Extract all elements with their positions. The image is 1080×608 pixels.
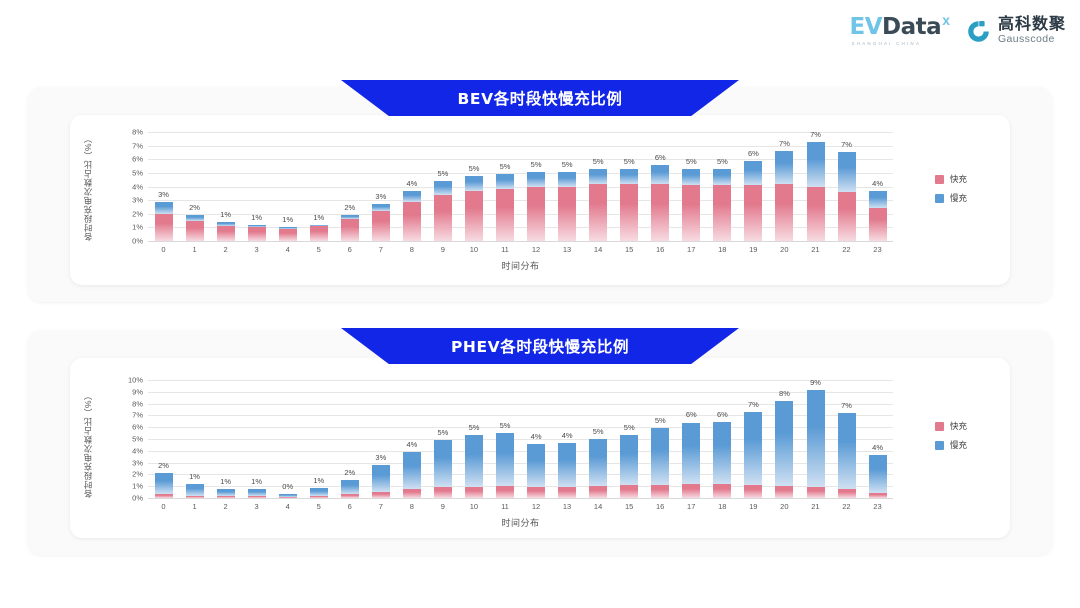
stacked-bar[interactable]: 5% bbox=[465, 435, 483, 498]
x-tick-label: 2 bbox=[210, 245, 241, 254]
bar-value-label: 5% bbox=[496, 162, 514, 171]
stacked-bar[interactable]: 6% bbox=[651, 165, 669, 241]
bar-value-label: 5% bbox=[527, 160, 545, 169]
x-tick-label: 15 bbox=[614, 502, 645, 511]
bar-column[interactable]: 7% bbox=[831, 380, 862, 498]
bar-column[interactable]: 5% bbox=[614, 132, 645, 241]
bar-column[interactable]: 0% bbox=[272, 380, 303, 498]
bar-segment-fast-charge[interactable] bbox=[341, 494, 359, 498]
bar-segment-slow-charge[interactable] bbox=[558, 172, 576, 187]
stacked-bar[interactable]: 2% bbox=[155, 473, 173, 498]
bar-segment-slow-charge[interactable] bbox=[744, 161, 762, 186]
bar-column[interactable]: 5% bbox=[490, 380, 521, 498]
stacked-bar[interactable]: 5% bbox=[496, 433, 514, 498]
bar-column[interactable]: 9% bbox=[800, 380, 831, 498]
bar-segment-fast-charge[interactable] bbox=[620, 184, 638, 241]
bar-column[interactable]: 1% bbox=[210, 380, 241, 498]
bar-segment-fast-charge[interactable] bbox=[434, 195, 452, 241]
bar-column[interactable]: 8% bbox=[769, 380, 800, 498]
phev-y-tick: 0% bbox=[132, 494, 143, 503]
x-tick-label: 0 bbox=[148, 502, 179, 511]
bar-segment-slow-charge[interactable] bbox=[434, 440, 452, 487]
stacked-bar[interactable]: 5% bbox=[620, 435, 638, 498]
phev-y-tick: 1% bbox=[132, 482, 143, 491]
bev-gridline bbox=[148, 241, 893, 242]
bar-segment-slow-charge[interactable] bbox=[651, 428, 669, 485]
bar-value-label: 3% bbox=[372, 192, 390, 201]
bar-segment-slow-charge[interactable] bbox=[558, 443, 576, 487]
bar-segment-slow-charge[interactable] bbox=[775, 401, 793, 485]
bar-value-label: 7% bbox=[807, 130, 825, 139]
stacked-bar[interactable]: 3% bbox=[372, 204, 390, 241]
x-tick-label: 6 bbox=[334, 502, 365, 511]
x-tick-label: 19 bbox=[738, 502, 769, 511]
bar-segment-slow-charge[interactable] bbox=[186, 484, 204, 495]
bar-value-label: 5% bbox=[465, 423, 483, 432]
bar-segment-slow-charge[interactable] bbox=[713, 169, 731, 185]
bar-value-label: 4% bbox=[403, 179, 421, 188]
x-tick-label: 6 bbox=[334, 245, 365, 254]
gausscode-logo: 高科数聚 Gausscode bbox=[966, 17, 1066, 45]
bar-value-label: 1% bbox=[217, 477, 235, 486]
bev-chart: 各时段充电次数占比（%）0%1%2%3%4%5%6%7%8%3%2%1%1%1%… bbox=[70, 115, 1010, 285]
stacked-bar[interactable]: 5% bbox=[434, 181, 452, 241]
x-tick-label: 10 bbox=[458, 502, 489, 511]
bar-value-label: 5% bbox=[620, 157, 638, 166]
stacked-bar[interactable]: 5% bbox=[651, 428, 669, 498]
stacked-bar[interactable]: 9% bbox=[807, 390, 825, 498]
bar-column[interactable]: 6% bbox=[676, 380, 707, 498]
stacked-bar[interactable]: 4% bbox=[527, 444, 545, 498]
legend-swatch-icon bbox=[935, 194, 944, 203]
stacked-bar[interactable]: 7% bbox=[744, 412, 762, 498]
bev-y-tick: 5% bbox=[132, 168, 143, 177]
bar-segment-fast-charge[interactable] bbox=[682, 484, 700, 498]
bar-segment-slow-charge[interactable] bbox=[869, 191, 887, 209]
bar-column[interactable]: 7% bbox=[831, 132, 862, 241]
bar-segment-slow-charge[interactable] bbox=[651, 165, 669, 184]
stacked-bar[interactable]: 1% bbox=[217, 489, 235, 498]
bar-column[interactable]: 4% bbox=[862, 132, 893, 241]
bar-segment-slow-charge[interactable] bbox=[496, 174, 514, 189]
bar-segment-fast-charge[interactable] bbox=[869, 208, 887, 241]
stacked-bar[interactable]: 1% bbox=[279, 227, 297, 241]
bar-segment-fast-charge[interactable] bbox=[527, 187, 545, 242]
bar-segment-slow-charge[interactable] bbox=[310, 488, 328, 496]
bar-column[interactable]: 1% bbox=[303, 380, 334, 498]
stacked-bar[interactable]: 1% bbox=[217, 222, 235, 241]
bar-column[interactable]: 4% bbox=[552, 380, 583, 498]
stacked-bar[interactable]: 1% bbox=[310, 225, 328, 241]
bev-x-axis-label: 时间分布 bbox=[148, 259, 893, 272]
bar-segment-fast-charge[interactable] bbox=[558, 487, 576, 498]
gausscode-logo-cn: 高科数聚 bbox=[998, 17, 1066, 34]
bev-y-axis-label: 各时段充电次数占比（%） bbox=[82, 132, 94, 241]
bar-column[interactable]: 4% bbox=[396, 380, 427, 498]
bar-value-label: 2% bbox=[186, 203, 204, 212]
x-tick-label: 5 bbox=[303, 502, 334, 511]
bar-segment-fast-charge[interactable] bbox=[838, 489, 856, 498]
x-tick-label: 8 bbox=[396, 502, 427, 511]
bar-segment-slow-charge[interactable] bbox=[372, 465, 390, 492]
x-tick-label: 16 bbox=[645, 245, 676, 254]
bar-segment-fast-charge[interactable] bbox=[838, 192, 856, 241]
bar-value-label: 4% bbox=[527, 432, 545, 441]
stacked-bar[interactable]: 3% bbox=[155, 202, 173, 242]
bar-value-label: 3% bbox=[155, 190, 173, 199]
logo-group: EVData x SHANGHAI CHINA 高科数聚 Gausscode bbox=[850, 16, 1066, 47]
bar-segment-slow-charge[interactable] bbox=[341, 480, 359, 495]
bar-column[interactable]: 5% bbox=[552, 132, 583, 241]
bar-value-label: 5% bbox=[465, 164, 483, 173]
legend-item[interactable]: 慢充 bbox=[935, 439, 967, 451]
x-tick-label: 4 bbox=[272, 502, 303, 511]
stacked-bar[interactable]: 5% bbox=[620, 169, 638, 241]
phev-y-tick: 9% bbox=[132, 387, 143, 396]
x-tick-label: 7 bbox=[365, 245, 396, 254]
bar-segment-fast-charge[interactable] bbox=[589, 184, 607, 241]
x-tick-label: 23 bbox=[862, 245, 893, 254]
bev-title-banner: BEV各时段快慢充比例 bbox=[341, 80, 739, 116]
bar-segment-fast-charge[interactable] bbox=[217, 226, 235, 241]
bar-column[interactable]: 7% bbox=[738, 380, 769, 498]
bar-column[interactable]: 1% bbox=[210, 132, 241, 241]
bar-segment-slow-charge[interactable] bbox=[744, 412, 762, 485]
bar-segment-slow-charge[interactable] bbox=[807, 390, 825, 487]
phev-chart-card: 各时段充电次数占比（%）0%1%2%3%4%5%6%7%8%9%10%2%1%1… bbox=[70, 358, 1010, 538]
bar-segment-fast-charge[interactable] bbox=[744, 485, 762, 498]
legend-item[interactable]: 慢充 bbox=[935, 192, 967, 204]
stacked-bar[interactable]: 6% bbox=[682, 422, 700, 498]
bar-segment-fast-charge[interactable] bbox=[775, 486, 793, 498]
bar-segment-fast-charge[interactable] bbox=[465, 191, 483, 241]
stacked-bar[interactable]: 5% bbox=[713, 169, 731, 241]
x-tick-label: 8 bbox=[396, 245, 427, 254]
bar-segment-slow-charge[interactable] bbox=[838, 413, 856, 489]
phev-y-tick: 6% bbox=[132, 423, 143, 432]
gausscode-mark-icon bbox=[966, 19, 991, 44]
stacked-bar[interactable]: 2% bbox=[186, 215, 204, 241]
bar-segment-fast-charge[interactable] bbox=[248, 496, 266, 498]
x-tick-label: 13 bbox=[552, 502, 583, 511]
bar-column[interactable]: 4% bbox=[521, 380, 552, 498]
phev-y-axis-label: 各时段充电次数占比（%） bbox=[82, 380, 94, 498]
bar-segment-fast-charge[interactable] bbox=[186, 496, 204, 498]
bar-column[interactable]: 2% bbox=[148, 380, 179, 498]
phev-x-axis-label: 时间分布 bbox=[148, 516, 893, 529]
bar-value-label: 5% bbox=[558, 160, 576, 169]
stacked-bar[interactable]: 5% bbox=[589, 439, 607, 498]
bar-segment-slow-charge[interactable] bbox=[217, 489, 235, 496]
x-tick-label: 13 bbox=[552, 245, 583, 254]
bar-segment-slow-charge[interactable] bbox=[589, 439, 607, 486]
x-tick-label: 14 bbox=[583, 245, 614, 254]
bar-segment-fast-charge[interactable] bbox=[496, 486, 514, 498]
bar-segment-fast-charge[interactable] bbox=[651, 184, 669, 241]
bar-column[interactable]: 5% bbox=[707, 132, 738, 241]
bev-plot-area: 0%1%2%3%4%5%6%7%8%3%2%1%1%1%1%2%3%4%5%5%… bbox=[148, 132, 893, 241]
stacked-bar[interactable]: 6% bbox=[744, 161, 762, 241]
bar-segment-fast-charge[interactable] bbox=[434, 487, 452, 498]
stacked-bar[interactable]: 2% bbox=[341, 215, 359, 241]
stacked-bar[interactable]: 1% bbox=[248, 225, 266, 241]
bar-segment-fast-charge[interactable] bbox=[155, 214, 173, 241]
x-tick-label: 9 bbox=[427, 245, 458, 254]
bar-segment-slow-charge[interactable] bbox=[589, 169, 607, 184]
bev-chart-card: 各时段充电次数占比（%）0%1%2%3%4%5%6%7%8%3%2%1%1%1%… bbox=[70, 115, 1010, 285]
bar-segment-fast-charge[interactable] bbox=[155, 494, 173, 498]
bar-segment-fast-charge[interactable] bbox=[651, 485, 669, 498]
bar-column[interactable]: 1% bbox=[241, 380, 272, 498]
x-tick-label: 0 bbox=[148, 245, 179, 254]
evdata-logo-superscript: x bbox=[942, 13, 950, 27]
bar-column[interactable]: 5% bbox=[583, 380, 614, 498]
stacked-bar[interactable]: 4% bbox=[403, 191, 421, 241]
stacked-bar[interactable]: 4% bbox=[403, 452, 421, 498]
bar-column[interactable]: 5% bbox=[427, 380, 458, 498]
phev-title-banner: PHEV各时段快慢充比例 bbox=[341, 328, 739, 364]
bar-segment-fast-charge[interactable] bbox=[775, 184, 793, 241]
bar-value-label: 6% bbox=[682, 410, 700, 419]
evdata-logo: EVData x SHANGHAI CHINA bbox=[850, 16, 950, 47]
bar-column[interactable]: 1% bbox=[272, 132, 303, 241]
bar-value-label: 4% bbox=[869, 443, 887, 452]
stacked-bar[interactable]: 7% bbox=[775, 151, 793, 241]
bar-column[interactable]: 5% bbox=[676, 132, 707, 241]
x-tick-label: 21 bbox=[800, 245, 831, 254]
bar-column[interactable]: 6% bbox=[738, 132, 769, 241]
bar-segment-fast-charge[interactable] bbox=[186, 221, 204, 241]
stacked-bar[interactable]: 5% bbox=[496, 174, 514, 241]
bev-chart-panel: 各时段充电次数占比（%）0%1%2%3%4%5%6%7%8%3%2%1%1%1%… bbox=[28, 87, 1052, 302]
x-tick-label: 12 bbox=[521, 245, 552, 254]
stacked-bar[interactable]: 7% bbox=[807, 142, 825, 241]
bar-segment-slow-charge[interactable] bbox=[807, 142, 825, 187]
stacked-bar[interactable]: 4% bbox=[869, 191, 887, 241]
bar-segment-fast-charge[interactable] bbox=[744, 185, 762, 241]
legend-item[interactable]: 快充 bbox=[935, 173, 967, 185]
bar-segment-slow-charge[interactable] bbox=[248, 489, 266, 497]
bar-value-label: 9% bbox=[807, 378, 825, 387]
stacked-bar[interactable]: 3% bbox=[372, 465, 390, 498]
bar-segment-slow-charge[interactable] bbox=[838, 152, 856, 192]
bar-segment-fast-charge[interactable] bbox=[465, 487, 483, 498]
bar-segment-slow-charge[interactable] bbox=[465, 435, 483, 486]
bar-segment-fast-charge[interactable] bbox=[403, 202, 421, 242]
stacked-bar[interactable]: 5% bbox=[465, 176, 483, 241]
x-tick-label: 11 bbox=[489, 245, 520, 254]
bar-value-label: 1% bbox=[248, 477, 266, 486]
stacked-bar[interactable]: 5% bbox=[434, 440, 452, 498]
legend-label: 慢充 bbox=[950, 192, 967, 204]
bev-y-tick: 3% bbox=[132, 196, 143, 205]
stacked-bar[interactable]: 2% bbox=[341, 480, 359, 498]
evdata-logo-text: EVData bbox=[850, 16, 942, 39]
bar-segment-fast-charge[interactable] bbox=[403, 489, 421, 498]
bar-column[interactable]: 5% bbox=[614, 380, 645, 498]
bar-value-label: 5% bbox=[589, 157, 607, 166]
bar-segment-slow-charge[interactable] bbox=[869, 455, 887, 493]
stacked-bar[interactable]: 1% bbox=[186, 484, 204, 498]
bar-segment-fast-charge[interactable] bbox=[248, 227, 266, 241]
bar-value-label: 7% bbox=[775, 139, 793, 148]
bar-segment-fast-charge[interactable] bbox=[279, 497, 297, 498]
x-tick-label: 3 bbox=[241, 245, 272, 254]
x-tick-label: 1 bbox=[179, 502, 210, 511]
bar-column[interactable]: 2% bbox=[179, 132, 210, 241]
bar-segment-slow-charge[interactable] bbox=[155, 202, 173, 214]
bar-segment-fast-charge[interactable] bbox=[869, 493, 887, 498]
bar-value-label: 5% bbox=[682, 157, 700, 166]
bar-value-label: 2% bbox=[155, 461, 173, 470]
bar-segment-fast-charge[interactable] bbox=[620, 485, 638, 498]
bar-column[interactable]: 5% bbox=[583, 132, 614, 241]
bar-segment-fast-charge[interactable] bbox=[310, 226, 328, 241]
bar-segment-fast-charge[interactable] bbox=[558, 187, 576, 242]
stacked-bar[interactable]: 1% bbox=[248, 489, 266, 498]
stacked-bar[interactable]: 7% bbox=[838, 413, 856, 498]
bar-value-label: 1% bbox=[310, 213, 328, 222]
x-tick-label: 4 bbox=[272, 245, 303, 254]
bar-segment-slow-charge[interactable] bbox=[496, 433, 514, 486]
stacked-bar[interactable]: 5% bbox=[589, 169, 607, 241]
phev-y-tick: 2% bbox=[132, 470, 143, 479]
bar-column[interactable]: 5% bbox=[427, 132, 458, 241]
bar-segment-fast-charge[interactable] bbox=[527, 487, 545, 498]
bar-segment-fast-charge[interactable] bbox=[589, 486, 607, 498]
bar-segment-fast-charge[interactable] bbox=[279, 229, 297, 241]
bar-column[interactable]: 2% bbox=[334, 132, 365, 241]
bar-segment-slow-charge[interactable] bbox=[775, 151, 793, 184]
bar-segment-slow-charge[interactable] bbox=[527, 444, 545, 487]
phev-y-tick: 3% bbox=[132, 458, 143, 467]
phev-y-tick: 4% bbox=[132, 446, 143, 455]
bar-value-label: 4% bbox=[869, 179, 887, 188]
bev-y-tick: 1% bbox=[132, 223, 143, 232]
bar-column[interactable]: 4% bbox=[862, 380, 893, 498]
stacked-bar[interactable]: 1% bbox=[310, 488, 328, 498]
phev-bar-group: 2%1%1%1%0%1%2%3%4%5%5%5%4%4%5%5%5%6%6%7%… bbox=[148, 380, 893, 498]
bar-segment-fast-charge[interactable] bbox=[217, 496, 235, 498]
bar-column[interactable]: 1% bbox=[303, 132, 334, 241]
legend-swatch-icon bbox=[935, 175, 944, 184]
bar-value-label: 1% bbox=[248, 213, 266, 222]
x-tick-label: 11 bbox=[489, 502, 520, 511]
stacked-bar[interactable]: 8% bbox=[775, 401, 793, 498]
bar-segment-slow-charge[interactable] bbox=[620, 169, 638, 184]
bar-segment-slow-charge[interactable] bbox=[620, 435, 638, 485]
bar-column[interactable]: 5% bbox=[458, 132, 489, 241]
x-tick-label: 3 bbox=[241, 502, 272, 511]
x-tick-label: 16 bbox=[645, 502, 676, 511]
bar-segment-fast-charge[interactable] bbox=[372, 211, 390, 241]
stacked-bar[interactable]: 5% bbox=[682, 169, 700, 241]
bar-column[interactable]: 1% bbox=[179, 380, 210, 498]
bar-value-label: 5% bbox=[713, 157, 731, 166]
bev-y-tick: 0% bbox=[132, 237, 143, 246]
phev-y-tick: 7% bbox=[132, 411, 143, 420]
legend-swatch-icon bbox=[935, 422, 944, 431]
bar-segment-slow-charge[interactable] bbox=[434, 181, 452, 195]
bar-column[interactable]: 7% bbox=[800, 132, 831, 241]
stacked-bar[interactable]: 5% bbox=[558, 172, 576, 241]
bar-value-label: 5% bbox=[434, 169, 452, 178]
bar-column[interactable]: 1% bbox=[241, 132, 272, 241]
bar-column[interactable]: 5% bbox=[521, 132, 552, 241]
bar-column[interactable]: 3% bbox=[148, 132, 179, 241]
bar-segment-slow-charge[interactable] bbox=[527, 172, 545, 187]
bar-column[interactable]: 3% bbox=[365, 380, 396, 498]
bar-segment-slow-charge[interactable] bbox=[465, 176, 483, 191]
phev-y-tick: 8% bbox=[132, 399, 143, 408]
bar-column[interactable]: 5% bbox=[645, 380, 676, 498]
x-tick-label: 7 bbox=[365, 502, 396, 511]
bar-value-label: 1% bbox=[310, 476, 328, 485]
bar-segment-fast-charge[interactable] bbox=[341, 219, 359, 241]
bar-column[interactable]: 6% bbox=[645, 132, 676, 241]
bar-segment-fast-charge[interactable] bbox=[807, 487, 825, 498]
stacked-bar[interactable]: 6% bbox=[713, 422, 731, 498]
x-tick-label: 23 bbox=[862, 502, 893, 511]
bar-segment-slow-charge[interactable] bbox=[372, 204, 390, 211]
bev-y-tick: 7% bbox=[132, 141, 143, 150]
bar-value-label: 6% bbox=[651, 153, 669, 162]
stacked-bar[interactable]: 0% bbox=[279, 494, 297, 498]
stacked-bar[interactable]: 7% bbox=[838, 152, 856, 241]
bar-column[interactable]: 7% bbox=[769, 132, 800, 241]
phev-plot-area: 0%1%2%3%4%5%6%7%8%9%10%2%1%1%1%0%1%2%3%4… bbox=[148, 380, 893, 498]
bev-y-tick: 8% bbox=[132, 128, 143, 137]
stacked-bar[interactable]: 4% bbox=[558, 443, 576, 498]
bar-value-label: 5% bbox=[651, 416, 669, 425]
bar-segment-slow-charge[interactable] bbox=[155, 473, 173, 494]
bar-value-label: 2% bbox=[341, 203, 359, 212]
phev-gridline bbox=[148, 498, 893, 499]
bar-segment-slow-charge[interactable] bbox=[682, 423, 700, 485]
legend-item[interactable]: 快充 bbox=[935, 420, 967, 432]
phev-title-text: PHEV各时段快慢充比例 bbox=[451, 335, 629, 357]
x-tick-label: 19 bbox=[738, 245, 769, 254]
bar-column[interactable]: 6% bbox=[707, 380, 738, 498]
bar-segment-fast-charge[interactable] bbox=[682, 185, 700, 241]
bar-column[interactable]: 5% bbox=[458, 380, 489, 498]
bar-segment-slow-charge[interactable] bbox=[403, 191, 421, 202]
bar-column[interactable]: 3% bbox=[365, 132, 396, 241]
bar-segment-slow-charge[interactable] bbox=[403, 452, 421, 489]
bar-segment-fast-charge[interactable] bbox=[372, 492, 390, 498]
bar-column[interactable]: 5% bbox=[490, 132, 521, 241]
bar-segment-fast-charge[interactable] bbox=[310, 496, 328, 498]
bar-column[interactable]: 4% bbox=[396, 132, 427, 241]
bar-segment-fast-charge[interactable] bbox=[713, 484, 731, 498]
phev-chart: 各时段充电次数占比（%）0%1%2%3%4%5%6%7%8%9%10%2%1%1… bbox=[70, 358, 1010, 538]
bar-value-label: 1% bbox=[217, 210, 235, 219]
bar-column[interactable]: 2% bbox=[334, 380, 365, 498]
bar-segment-slow-charge[interactable] bbox=[713, 422, 731, 485]
bar-segment-slow-charge[interactable] bbox=[682, 169, 700, 185]
bar-segment-fast-charge[interactable] bbox=[713, 185, 731, 241]
bar-value-label: 2% bbox=[341, 468, 359, 477]
bar-segment-fast-charge[interactable] bbox=[496, 189, 514, 241]
x-tick-label: 20 bbox=[769, 245, 800, 254]
x-tick-label: 20 bbox=[769, 502, 800, 511]
bar-segment-fast-charge[interactable] bbox=[807, 187, 825, 242]
page-header: EVData x SHANGHAI CHINA 高科数聚 Gausscode bbox=[0, 0, 1080, 62]
stacked-bar[interactable]: 4% bbox=[869, 455, 887, 498]
stacked-bar[interactable]: 5% bbox=[527, 172, 545, 241]
x-tick-label: 22 bbox=[831, 502, 862, 511]
legend-label: 快充 bbox=[950, 173, 967, 185]
